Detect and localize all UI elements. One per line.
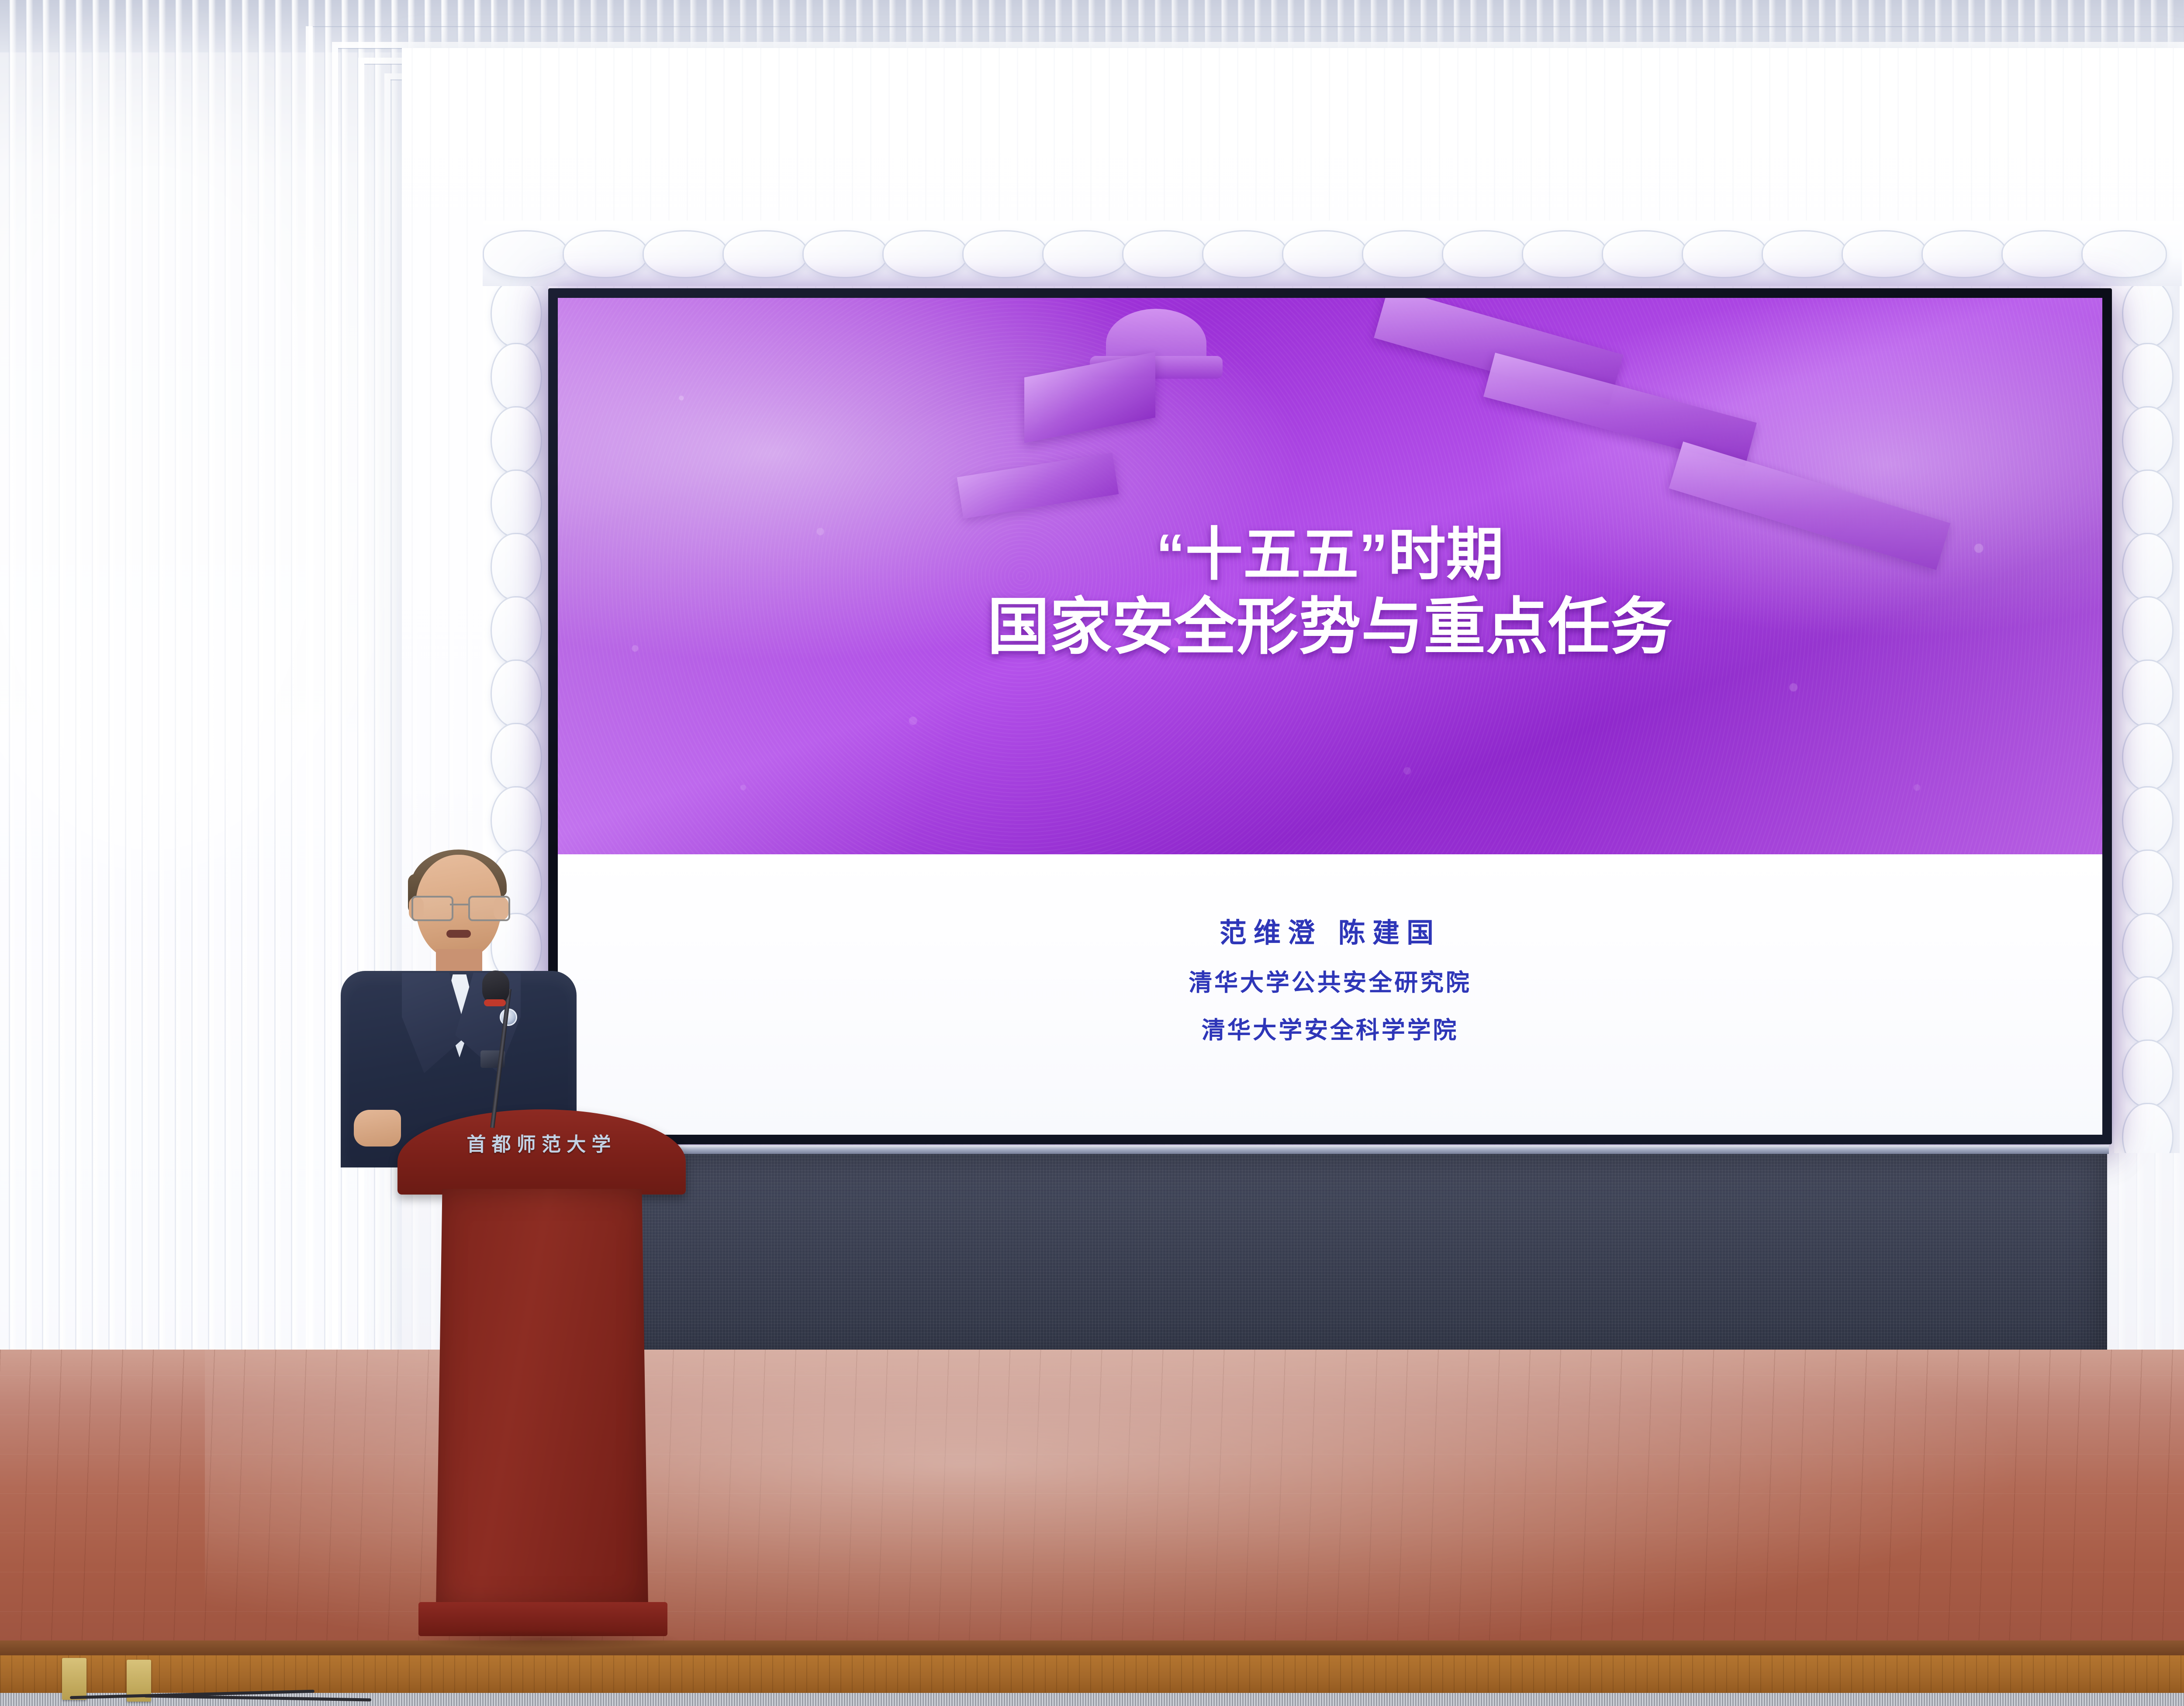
speaker-hand — [354, 1110, 401, 1147]
slide-lower-panel: 范维澄 陈建国 清华大学公共安全研究院 清华大学安全科学学院 — [558, 854, 2102, 1135]
floor-outlet-box-1[interactable] — [62, 1658, 86, 1700]
podium-university-name: 首都师范大学 — [397, 1129, 686, 1157]
microphone-red-ring — [484, 999, 506, 1006]
glasses-bridge — [450, 904, 468, 905]
slide-hero-photo: “十五五”时期 国家安全形势与重点任务 — [558, 298, 2102, 854]
presentation-slide[interactable]: “十五五”时期 国家安全形势与重点任务 范维澄 陈建国 清华大学公共安全研究院 … — [558, 298, 2102, 1135]
slide-author-block: 范维澄 陈建国 清华大学公共安全研究院 清华大学安全科学学院 — [558, 911, 2102, 1045]
glasses-lens-left — [411, 896, 453, 921]
podium-front-panel: 首都师范大学 — [397, 1109, 686, 1195]
floor-plank-seams — [0, 1350, 2184, 1651]
led-screen-bezel: “十五五”时期 国家安全形势与重点任务 范维澄 陈建国 清华大学公共安全研究院 … — [548, 288, 2112, 1144]
scallop-border-top — [483, 221, 2182, 286]
screen-bottom-metal-trim — [551, 1145, 2109, 1154]
stage-floor — [0, 1350, 2184, 1651]
glasses-lens-right — [468, 896, 510, 921]
slide-affiliation-1: 清华大学公共安全研究院 — [558, 963, 2102, 998]
speaker-mouth — [446, 930, 471, 938]
slide-title-line-1: “十五五”时期 — [558, 521, 2102, 589]
speaker-glasses — [410, 896, 509, 919]
slide-authors: 范维澄 陈建国 — [558, 911, 2102, 950]
podium-body — [436, 1189, 648, 1608]
slide-affiliation-2: 清华大学安全科学学院 — [558, 1011, 2102, 1045]
podium-floor-shadow — [411, 1629, 681, 1649]
acoustic-panel-below-screen — [554, 1154, 2107, 1364]
lectern-podium: 首都师范大学 — [397, 1109, 686, 1660]
lecture-hall-scene: “十五五”时期 国家安全形势与重点任务 范维澄 陈建国 清华大学公共安全研究院 … — [0, 0, 2184, 1706]
stage-edge-nosing — [0, 1640, 2184, 1656]
slide-title-line-2: 国家安全形势与重点任务 — [558, 590, 2102, 664]
scallop-border-right — [2114, 280, 2180, 1153]
slide-title-block: “十五五”时期 国家安全形势与重点任务 — [558, 521, 2102, 665]
stage-riser-front-panel — [0, 1655, 2184, 1695]
